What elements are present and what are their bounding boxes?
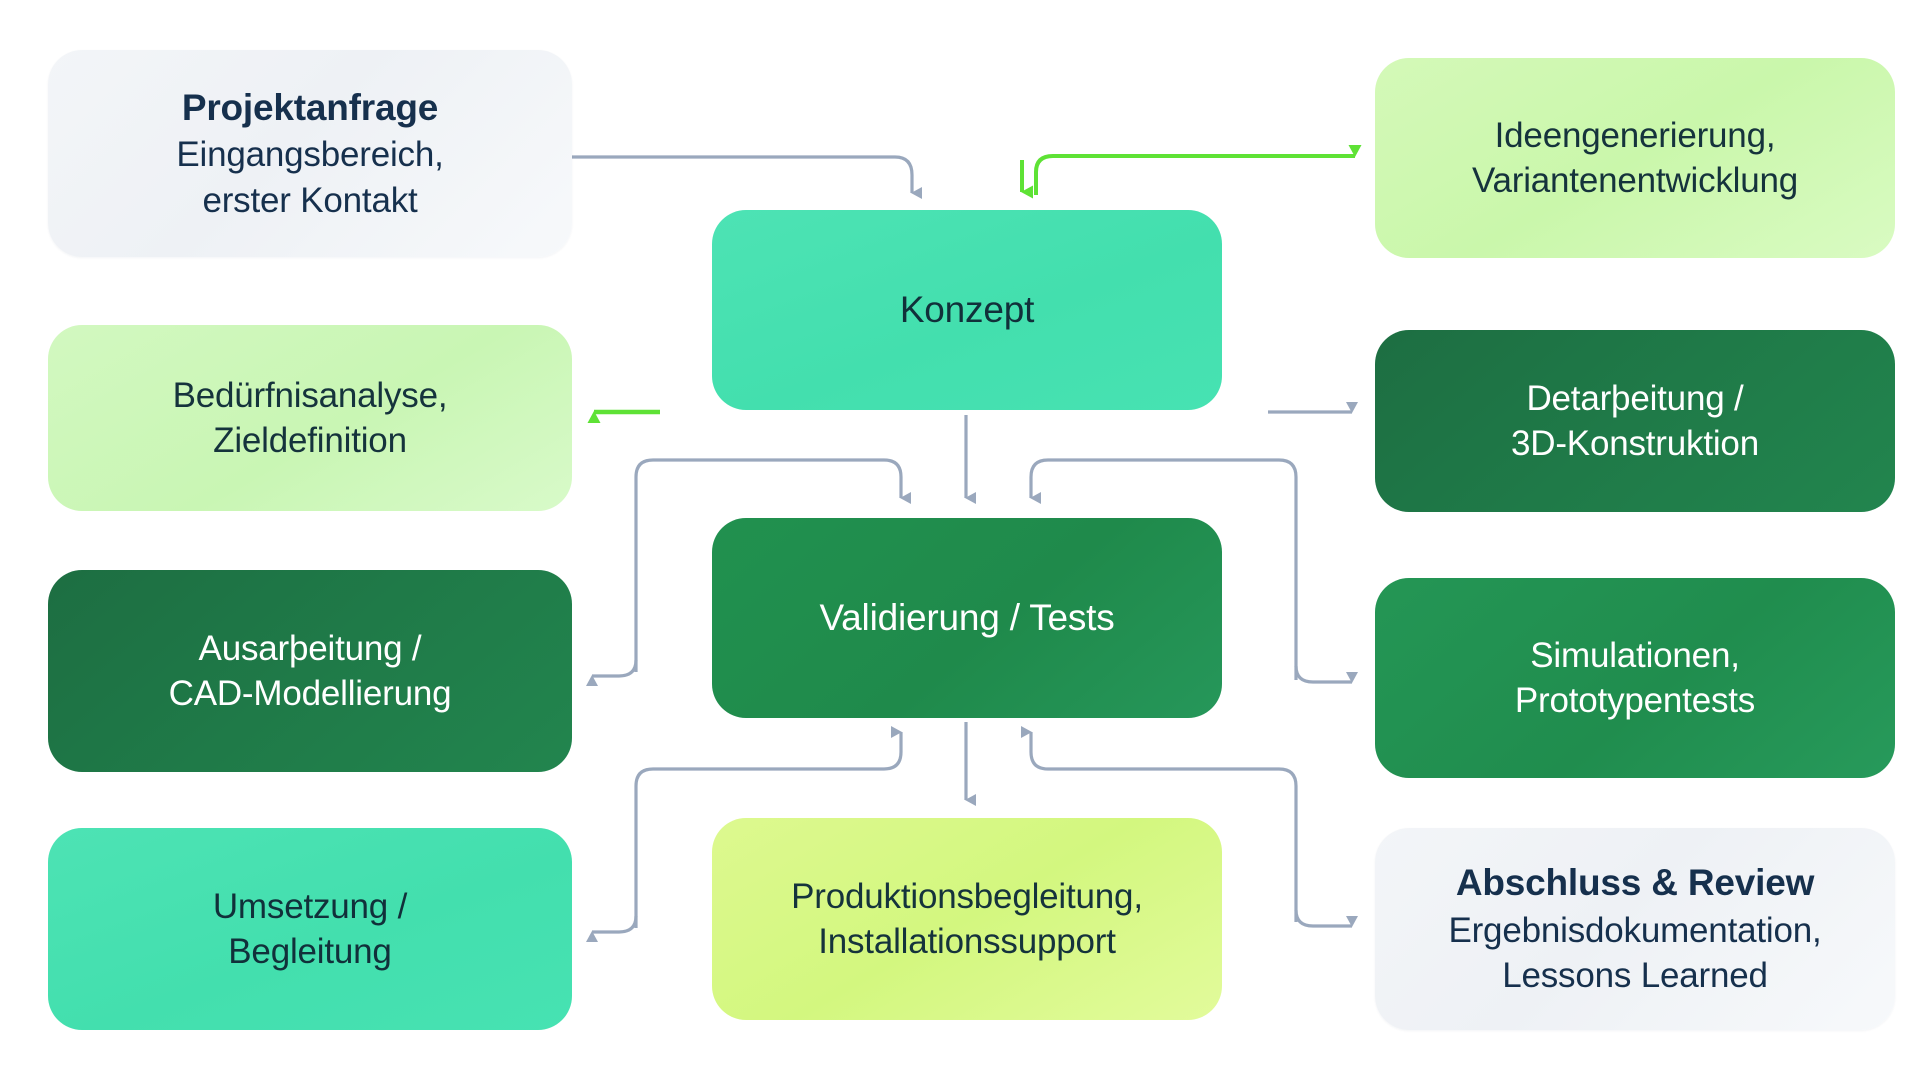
node-abschluss[interactable]: Abschluss & Review Ergebnisdokumentation…: [1375, 828, 1895, 1030]
node-ideengenerierung[interactable]: Ideengenerierung, Variantenentwicklung: [1375, 58, 1895, 258]
node-umsetzung-line1: Umsetzung /: [213, 884, 407, 930]
node-produktionsbegleitung-line1: Produktionsbegleitung,: [791, 874, 1143, 920]
edge-rail-to-umsetzung: [592, 916, 636, 932]
node-ausarbeitung-line2: CAD-Modellierung: [169, 671, 452, 717]
node-ideengenerierung-line2: Variantenentwicklung: [1472, 158, 1798, 204]
node-produktionsbegleitung-line2: Installationssupport: [818, 919, 1116, 965]
edge-projektanfrage-to-konzept: [572, 157, 912, 193]
node-umsetzung[interactable]: Umsetzung / Begleitung: [48, 828, 572, 1030]
node-projektanfrage[interactable]: Projektanfrage Eingangsbereich, erster K…: [48, 50, 572, 257]
edge-rail-to-abschluss: [1296, 910, 1352, 926]
node-umsetzung-line2: Begleitung: [228, 929, 391, 975]
node-detarbeitung-line2: 3D-Konstruktion: [1511, 421, 1759, 467]
node-beduerfnisanalyse-line2: Zieldefinition: [213, 418, 407, 464]
node-projektanfrage-line1: Eingangsbereich,: [176, 132, 443, 178]
node-beduerfnisanalyse[interactable]: Bedürfnisanalyse, Zieldefinition: [48, 325, 572, 511]
edge-konzept-to-ideengenerierung: [1036, 156, 1355, 195]
node-simulationen-line1: Simulationen,: [1530, 633, 1739, 679]
node-detarbeitung-line1: Detarþeitung /: [1526, 376, 1743, 422]
node-abschluss-title: Abschluss & Review: [1456, 859, 1814, 907]
node-detarbeitung[interactable]: Detarþeitung / 3D-Konstruktion: [1375, 330, 1895, 512]
node-ideengenerierung-line1: Ideengenerierung,: [1495, 113, 1776, 159]
node-konzept[interactable]: Konzept: [712, 210, 1222, 410]
node-simulationen-line2: Prototypentests: [1515, 678, 1755, 724]
node-abschluss-line2: Lessons Learned: [1502, 953, 1768, 999]
node-produktionsbegleitung[interactable]: Produktionsbegleitung, Installationssupp…: [712, 818, 1222, 1020]
edge-validierung-to-ausarbeitung: [592, 660, 636, 676]
node-konzept-label: Konzept: [900, 286, 1034, 334]
edge-validierung-to-simulationen: [1296, 666, 1352, 682]
node-validierung-label: Validierung / Tests: [819, 594, 1114, 642]
flowchart-canvas: Projektanfrage Eingangsbereich, erster K…: [0, 0, 1919, 1078]
node-projektanfrage-title: Projektanfrage: [182, 84, 438, 132]
node-ausarbeitung-line1: Ausarþeitung /: [199, 626, 422, 672]
node-ausarbeitung[interactable]: Ausarþeitung / CAD-Modellierung: [48, 570, 572, 772]
node-validierung[interactable]: Validierung / Tests: [712, 518, 1222, 718]
node-abschluss-line1: Ergebnisdokumentation,: [1448, 908, 1821, 954]
node-beduerfnisanalyse-line1: Bedürfnisanalyse,: [173, 373, 448, 419]
node-projektanfrage-line2: erster Kontakt: [202, 178, 417, 224]
node-simulationen[interactable]: Simulationen, Prototypentests: [1375, 578, 1895, 778]
